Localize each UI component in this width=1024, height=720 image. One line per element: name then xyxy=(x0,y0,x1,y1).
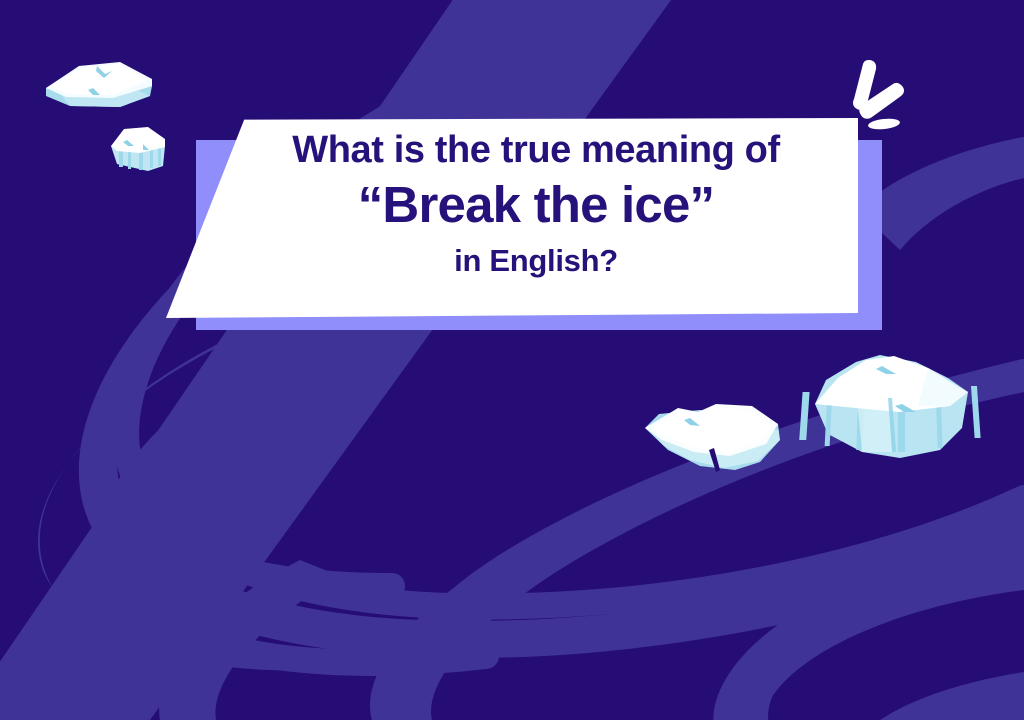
sparkle-group xyxy=(853,60,904,131)
ice-floe-top-left xyxy=(46,62,152,107)
ice-chunk-top-left xyxy=(111,127,165,171)
iceberg-large-right xyxy=(799,355,980,458)
poster-canvas: What is the true meaning of “Break the i… xyxy=(0,0,1024,720)
foreground-artwork xyxy=(0,0,1024,720)
sparkle-stroke-horizontal xyxy=(868,117,901,130)
ice-floe-mid-right xyxy=(645,404,780,472)
